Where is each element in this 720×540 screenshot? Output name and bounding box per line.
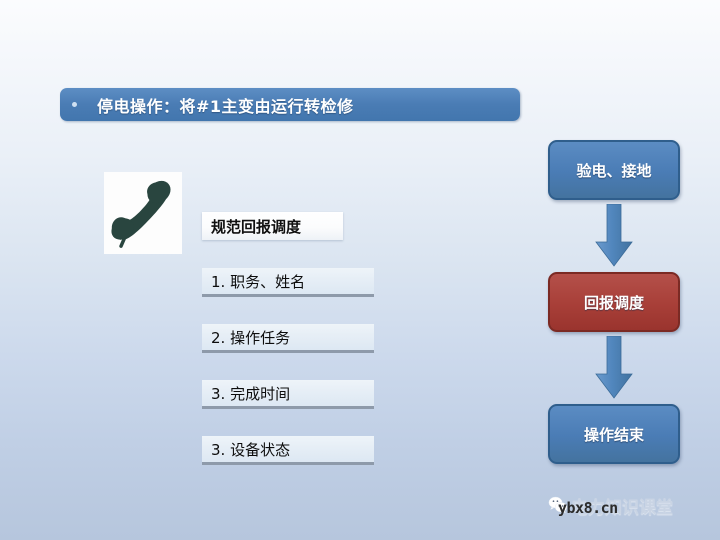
- slide-title-text: 停电操作：将#1主变由运行转检修: [97, 93, 354, 117]
- flow-node-label: 回报调度: [584, 292, 644, 313]
- list-item-label: 1. 职务、姓名: [211, 271, 305, 292]
- flow-node-operation-end: 操作结束: [548, 404, 680, 464]
- flow-node-label: 操作结束: [584, 424, 644, 445]
- list-item-label: 3. 设备状态: [211, 439, 290, 460]
- flow-node-verify-ground: 验电、接地: [548, 140, 680, 200]
- procedure-list-heading-label: 规范回报调度: [211, 216, 301, 237]
- flow-node-label: 验电、接地: [576, 160, 651, 181]
- list-item: 2. 操作任务: [202, 324, 374, 353]
- flow-node-report-dispatch: 回报调度: [548, 272, 680, 332]
- process-flow-diagram: 验电、接地 回报调度: [548, 140, 680, 464]
- procedure-list-panel: 规范回报调度 1. 职务、姓名 2. 操作任务 3. 完成时间 3. 设备状态: [202, 212, 374, 492]
- site-watermark: ybx8.cn: [558, 499, 618, 517]
- down-arrow-icon: [594, 336, 634, 400]
- slide-title-banner: 停电操作：将#1主变由运行转检修: [60, 88, 520, 121]
- telephone-handset-icon: [106, 175, 180, 251]
- procedure-list-heading: 规范回报调度: [202, 212, 343, 240]
- list-item: 3. 完成时间: [202, 380, 374, 409]
- down-arrow-icon: [594, 204, 634, 268]
- list-item-label: 3. 完成时间: [211, 383, 290, 404]
- list-item: 3. 设备状态: [202, 436, 374, 465]
- telephone-image-box: [104, 172, 182, 254]
- list-item-label: 2. 操作任务: [211, 327, 290, 348]
- flow-arrow-2: [548, 332, 680, 404]
- list-item: 1. 职务、姓名: [202, 268, 374, 297]
- slide-canvas: 停电操作：将#1主变由运行转检修 规范回报调度 1. 职务、姓名 2. 操作任务…: [0, 0, 720, 540]
- bullet-dot-icon: [72, 102, 77, 107]
- flow-arrow-1: [548, 200, 680, 272]
